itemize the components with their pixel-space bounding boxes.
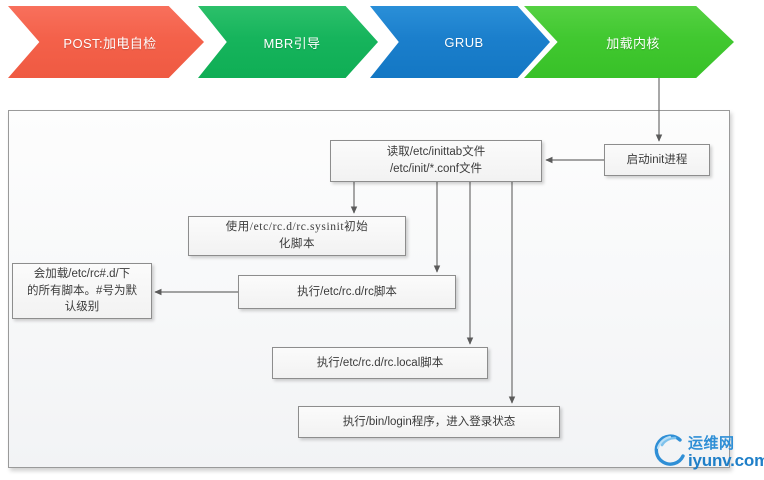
node-rcnum-line1: 会加载/etc/rc#.d/下 bbox=[27, 266, 137, 283]
node-login-line1: 执行/bin/login程序，进入登录状态 bbox=[343, 414, 516, 431]
node-rcnum-line3: 认级别 bbox=[27, 299, 137, 316]
stage-chevron-mbr[interactable]: MBR引导 bbox=[198, 6, 378, 78]
node-rcd-line1: 执行/etc/rc.d/rc脚本 bbox=[297, 284, 397, 301]
iyunv-logo-icon bbox=[650, 431, 692, 473]
watermark-text: 运维网 iyunv.com bbox=[688, 436, 764, 469]
site-watermark: 运维网 iyunv.com bbox=[650, 428, 762, 476]
node-runlevel-note[interactable]: 会加载/etc/rc#.d/下 的所有脚本。#号为默 认级别 bbox=[12, 263, 152, 319]
node-init-line1: 启动init进程 bbox=[627, 152, 688, 169]
stage-chevron-kernel[interactable]: 加载内核 bbox=[524, 6, 734, 78]
boot-stage-banner: POST:加电自检 MBR引导 GRUB 加载内核 bbox=[0, 0, 764, 92]
node-inittab-line2: /etc/init/*.conf文件 bbox=[387, 161, 485, 178]
node-exec-bin-login[interactable]: 执行/bin/login程序，进入登录状态 bbox=[298, 406, 560, 438]
node-rcnum-line2: 的所有脚本。#号为默 bbox=[27, 283, 137, 300]
node-rclocal-line1: 执行/etc/rc.d/rc.local脚本 bbox=[317, 355, 444, 372]
watermark-cn: 运维网 bbox=[688, 436, 764, 451]
watermark-en: iyunv.com bbox=[688, 452, 764, 469]
node-sysinit-line1: 使用/etc/rc.d/rc.sysinit初始 bbox=[226, 219, 369, 236]
node-inittab-line1: 读取/etc/inittab文件 bbox=[387, 144, 485, 161]
stage-label-grub: GRUB bbox=[444, 35, 483, 50]
stage-chevron-post[interactable]: POST:加电自检 bbox=[8, 6, 204, 78]
stage-chevron-grub[interactable]: GRUB bbox=[370, 6, 550, 78]
stage-label-mbr: MBR引导 bbox=[264, 33, 321, 52]
stage-label-kernel: 加载内核 bbox=[606, 33, 660, 52]
node-rc-sysinit[interactable]: 使用/etc/rc.d/rc.sysinit初始 化脚本 bbox=[188, 216, 406, 256]
node-exec-rc-local[interactable]: 执行/etc/rc.d/rc.local脚本 bbox=[272, 347, 488, 379]
node-exec-rcd-rc[interactable]: 执行/etc/rc.d/rc脚本 bbox=[238, 275, 456, 309]
node-read-inittab[interactable]: 读取/etc/inittab文件 /etc/init/*.conf文件 bbox=[330, 140, 542, 182]
diagram-canvas: POST:加电自检 MBR引导 GRUB 加载内核 bbox=[0, 0, 764, 480]
stage-label-post: POST:加电自检 bbox=[63, 33, 156, 52]
node-sysinit-line2: 化脚本 bbox=[226, 236, 369, 253]
node-start-init-process[interactable]: 启动init进程 bbox=[604, 144, 710, 176]
